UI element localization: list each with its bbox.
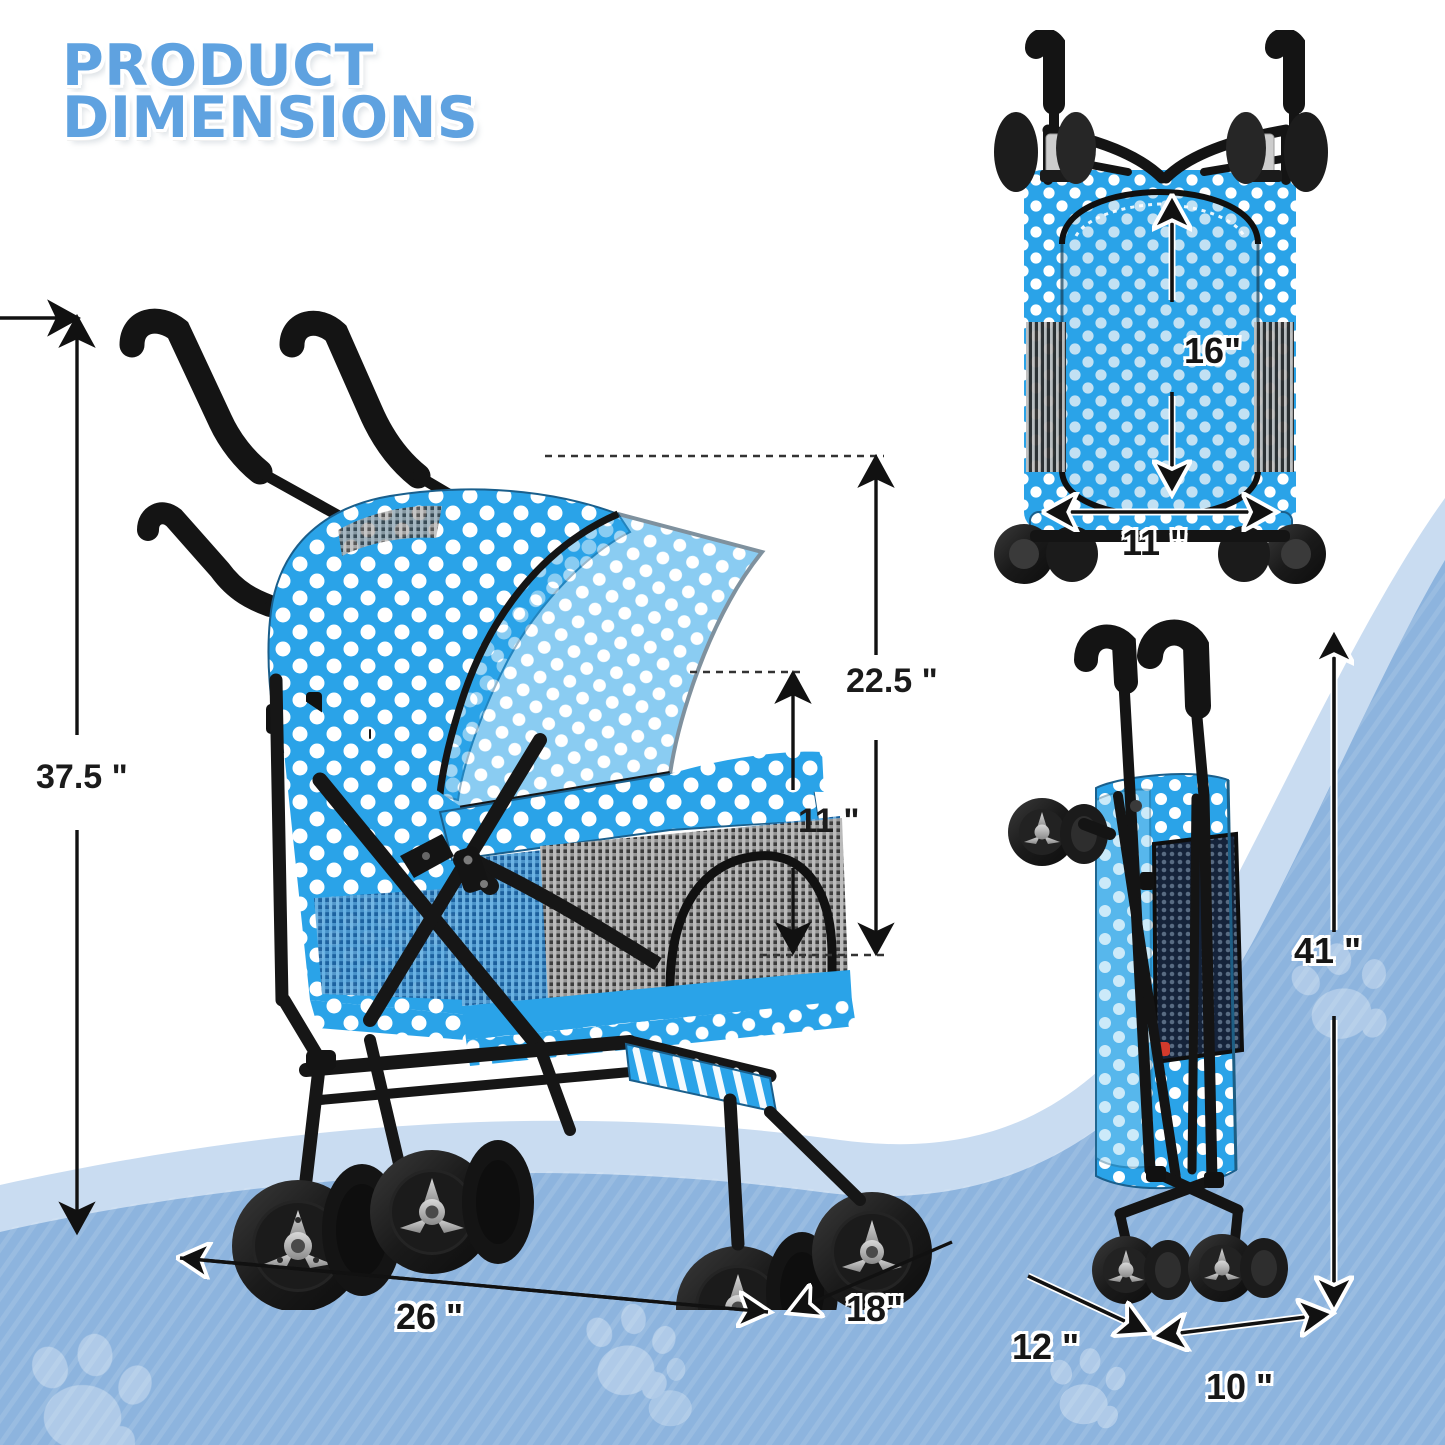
dim-label-cabin-length-top: 16" xyxy=(1184,330,1241,372)
top-view-body xyxy=(1024,170,1296,538)
wheels xyxy=(232,1100,932,1310)
dim-label-overall-length: 26 " xyxy=(396,1296,463,1338)
dim-label-folded-depth: 12 " xyxy=(1012,1326,1079,1368)
dim-label-canopy-height: 22.5 " xyxy=(846,662,938,701)
side-view-open-stroller xyxy=(70,300,1000,1310)
infographic-canvas: PRODUCT DIMENSIONS xyxy=(0,0,1445,1445)
dim-label-folded-width: 10 " xyxy=(1206,1366,1273,1408)
dim-label-overall-width: 18" xyxy=(846,1288,903,1330)
top-view-folded-stroller xyxy=(990,30,1330,590)
side-view-folded-stroller xyxy=(1000,610,1340,1330)
page-title: PRODUCT DIMENSIONS xyxy=(62,40,478,145)
folded-bottom-wheels xyxy=(1092,1234,1288,1304)
dim-label-cabin-height: 11 " xyxy=(798,802,860,841)
dim-label-overall-height: 37.5 " xyxy=(36,758,128,797)
dim-label-folded-height: 41 " xyxy=(1294,930,1361,972)
folded-upper-wheels xyxy=(1008,798,1110,866)
dim-label-base-width-top: 11 " xyxy=(1122,522,1187,564)
